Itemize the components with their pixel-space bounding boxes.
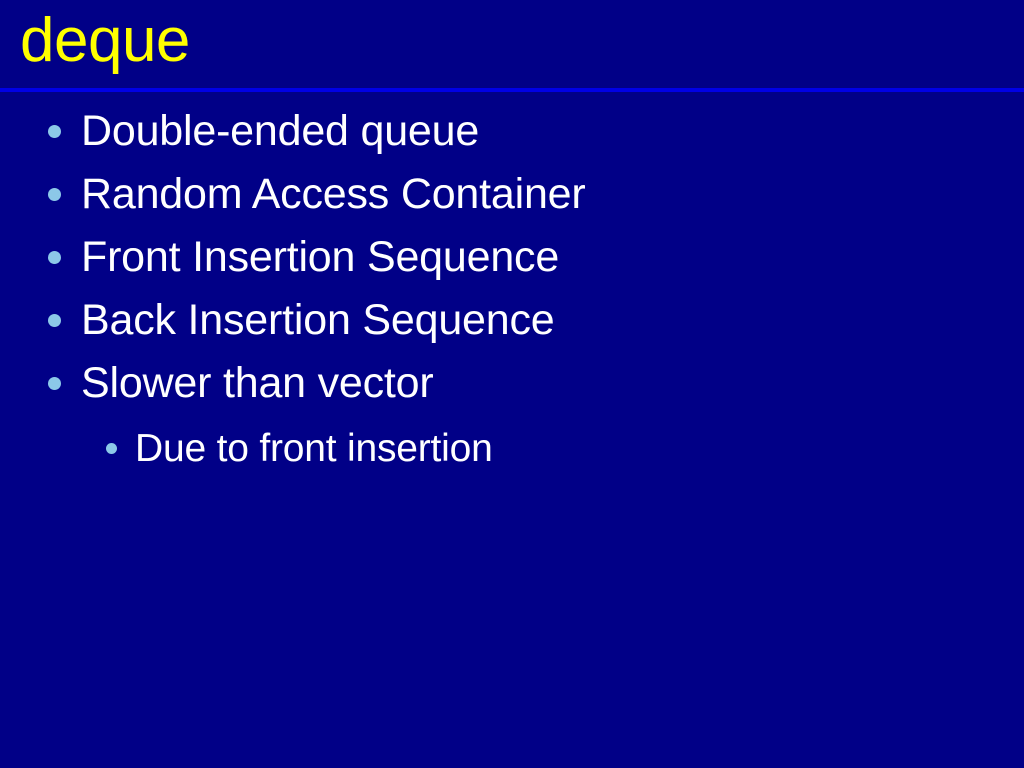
- presentation-slide: deque Double-ended queue Random Access C…: [0, 0, 1024, 768]
- list-item-label: Double-ended queue: [81, 100, 479, 163]
- bullet-point-icon: [106, 443, 117, 454]
- list-item-label: Slower than vector: [81, 352, 434, 415]
- list-item: Slower than vector: [0, 355, 1024, 418]
- bullet-point-icon: [48, 377, 61, 390]
- title-divider: [0, 88, 1024, 92]
- list-item-label: Back Insertion Sequence: [81, 289, 554, 352]
- bullet-point-icon: [48, 125, 61, 138]
- list-item: Random Access Container: [0, 166, 1024, 229]
- list-item-sub: Due to front insertion: [0, 418, 1024, 483]
- bullet-point-icon: [48, 314, 61, 327]
- list-item-label: Front Insertion Sequence: [81, 226, 559, 289]
- list-item: Back Insertion Sequence: [0, 292, 1024, 355]
- list-item: Front Insertion Sequence: [0, 229, 1024, 292]
- page-title: deque: [20, 2, 190, 80]
- bullet-list: Double-ended queue Random Access Contain…: [0, 103, 1024, 483]
- list-item: Double-ended queue: [0, 103, 1024, 166]
- bullet-point-icon: [48, 188, 61, 201]
- list-item-label: Due to front insertion: [135, 417, 493, 480]
- list-item-label: Random Access Container: [81, 163, 586, 226]
- bullet-point-icon: [48, 251, 61, 264]
